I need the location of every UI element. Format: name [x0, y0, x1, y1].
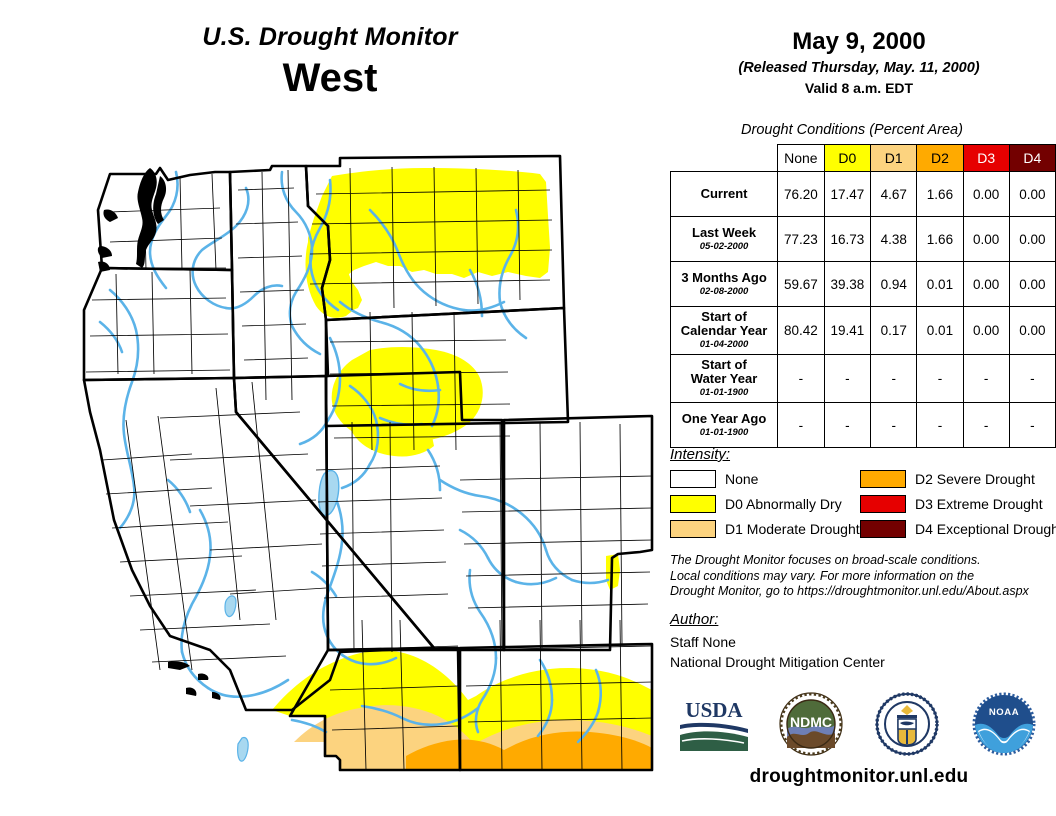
- cell-current-d0: 17.47: [824, 172, 871, 217]
- swatch-none-icon: [670, 470, 716, 488]
- column-header-none: None: [778, 145, 825, 172]
- cell-oneyear-d3: -: [963, 403, 1009, 448]
- cell-calyear-d4: 0.00: [1009, 307, 1055, 355]
- date-block: May 9, 2000 (Released Thursday, May. 11,…: [662, 28, 1056, 98]
- swatch-d1-icon: [670, 520, 716, 538]
- legend-item-d3: D3 Extreme Drought: [860, 491, 1050, 516]
- row-label-last-week: Last Week 05-02-2000: [671, 217, 778, 262]
- legend-item-d4: D4 Exceptional Drought: [860, 516, 1050, 541]
- table-caption: Drought Conditions (Percent Area): [662, 122, 1042, 138]
- column-header-d3: D3: [963, 145, 1009, 172]
- page-title: U.S. Drought Monitor: [0, 22, 660, 52]
- info-panel: May 9, 2000 (Released Thursday, May. 11,…: [662, 0, 1056, 816]
- valid-time: Valid 8 a.m. EDT: [662, 79, 1056, 98]
- cell-lastweek-d2: 1.66: [917, 217, 963, 262]
- cell-wateryear-d0: -: [824, 355, 871, 403]
- column-header-d0: D0: [824, 145, 871, 172]
- author-title: Author:: [670, 611, 718, 628]
- drought-map[interactable]: [40, 150, 660, 800]
- legend-label-d1: D1 Moderate Drought: [725, 521, 860, 537]
- disclaimer-line-3: Drought Monitor, go to https://droughtmo…: [670, 584, 1050, 600]
- swatch-d3-icon: [860, 495, 906, 513]
- row-label-text: Start of Calendar Year: [681, 309, 767, 338]
- site-url[interactable]: droughtmonitor.unl.edu: [662, 766, 1056, 788]
- cell-oneyear-d4: -: [1009, 403, 1055, 448]
- drought-map-svg[interactable]: [40, 150, 660, 800]
- ndmc-logo[interactable]: NDMC: [773, 691, 849, 757]
- row-label-one-year-ago: One Year Ago 01-01-1900: [671, 403, 778, 448]
- row-label-text: Start of Water Year: [691, 357, 758, 386]
- legend-label-d3: D3 Extreme Drought: [915, 496, 1043, 512]
- intensity-legend-title: Intensity:: [670, 446, 730, 463]
- map-title-block: U.S. Drought Monitor West: [0, 22, 660, 102]
- legend-label-none: None: [725, 471, 758, 487]
- legend-label-d0: D0 Abnormally Dry: [725, 496, 842, 512]
- cell-current-d4: 0.00: [1009, 172, 1055, 217]
- author-block: Staff None National Drought Mitigation C…: [670, 632, 1050, 672]
- cell-wateryear-d4: -: [1009, 355, 1055, 403]
- table-corner-cell: [671, 145, 778, 172]
- legend-item-d2: D2 Severe Drought: [860, 466, 1050, 491]
- drought-conditions-table: None D0 D1 D2 D3 D4 Current 76.20 17.47 …: [670, 144, 1056, 448]
- usdc-logo[interactable]: [869, 691, 945, 757]
- column-header-d2: D2: [917, 145, 963, 172]
- column-header-d1: D1: [871, 145, 917, 172]
- svg-text:NOAA: NOAA: [989, 707, 1019, 718]
- row-label-date: 05-02-2000: [673, 241, 775, 253]
- column-header-d4: D4: [1009, 145, 1055, 172]
- author-organization: National Drought Mitigation Center: [670, 652, 1050, 672]
- region-title: West: [0, 54, 660, 102]
- swatch-d4-icon: [860, 520, 906, 538]
- table-row: Last Week 05-02-2000 77.23 16.73 4.38 1.…: [671, 217, 1056, 262]
- cell-3months-d1: 0.94: [871, 262, 917, 307]
- cell-current-d3: 0.00: [963, 172, 1009, 217]
- row-label-text: Last Week: [692, 225, 756, 240]
- svg-text:NDMC: NDMC: [790, 714, 832, 730]
- usda-logo[interactable]: USDA: [676, 691, 752, 757]
- cell-wateryear-none: -: [778, 355, 825, 403]
- intensity-legend: None D2 Severe Drought D0 Abnormally Dry…: [670, 466, 1050, 541]
- table-row: Current 76.20 17.47 4.67 1.66 0.00 0.00: [671, 172, 1056, 217]
- row-label-start-water-year: Start of Water Year 01-01-1900: [671, 355, 778, 403]
- cell-current-none: 76.20: [778, 172, 825, 217]
- table-row: 3 Months Ago 02-08-2000 59.67 39.38 0.94…: [671, 262, 1056, 307]
- cell-3months-d4: 0.00: [1009, 262, 1055, 307]
- cell-lastweek-d3: 0.00: [963, 217, 1009, 262]
- cell-calyear-d0: 19.41: [824, 307, 871, 355]
- legend-label-d4: D4 Exceptional Drought: [915, 521, 1056, 537]
- cell-oneyear-none: -: [778, 403, 825, 448]
- cell-calyear-d3: 0.00: [963, 307, 1009, 355]
- legend-item-d0: D0 Abnormally Dry: [670, 491, 860, 516]
- noaa-logo[interactable]: NOAA: [966, 691, 1042, 757]
- row-label-current: Current: [671, 172, 778, 217]
- release-date: (Released Thursday, May. 11, 2000): [662, 58, 1056, 78]
- author-name: Staff None: [670, 632, 1050, 652]
- legend-item-none: None: [670, 466, 860, 491]
- cell-lastweek-d1: 4.38: [871, 217, 917, 262]
- cell-wateryear-d1: -: [871, 355, 917, 403]
- row-label-text: One Year Ago: [682, 411, 767, 426]
- table-header-row: None D0 D1 D2 D3 D4: [671, 145, 1056, 172]
- disclaimer-line-2: Local conditions may vary. For more info…: [670, 569, 1050, 585]
- legend-label-d2: D2 Severe Drought: [915, 471, 1035, 487]
- cell-oneyear-d0: -: [824, 403, 871, 448]
- table-row: Start of Water Year 01-01-1900 - - - - -…: [671, 355, 1056, 403]
- cell-lastweek-none: 77.23: [778, 217, 825, 262]
- table-row: One Year Ago 01-01-1900 - - - - - -: [671, 403, 1056, 448]
- table-row: Start of Calendar Year 01-04-2000 80.42 …: [671, 307, 1056, 355]
- row-label-start-calendar-year: Start of Calendar Year 01-04-2000: [671, 307, 778, 355]
- disclaimer-text: The Drought Monitor focuses on broad-sca…: [670, 553, 1050, 600]
- swatch-d2-icon: [860, 470, 906, 488]
- row-label-3-months-ago: 3 Months Ago 02-08-2000: [671, 262, 778, 307]
- cell-calyear-d1: 0.17: [871, 307, 917, 355]
- partner-logos: USDA NDMC: [666, 690, 1052, 758]
- cell-current-d1: 4.67: [871, 172, 917, 217]
- row-label-text: 3 Months Ago: [681, 270, 766, 285]
- cell-calyear-d2: 0.01: [917, 307, 963, 355]
- swatch-d0-icon: [670, 495, 716, 513]
- cell-3months-d0: 39.38: [824, 262, 871, 307]
- cell-3months-d2: 0.01: [917, 262, 963, 307]
- cell-calyear-none: 80.42: [778, 307, 825, 355]
- legend-item-d1: D1 Moderate Drought: [670, 516, 860, 541]
- row-label-date: 02-08-2000: [673, 286, 775, 298]
- row-label-text: Current: [701, 186, 748, 201]
- row-label-date: 01-01-1900: [673, 427, 775, 439]
- svg-text:USDA: USDA: [686, 698, 744, 722]
- map-date: May 9, 2000: [662, 28, 1056, 56]
- cell-lastweek-d0: 16.73: [824, 217, 871, 262]
- cell-wateryear-d2: -: [917, 355, 963, 403]
- cell-oneyear-d1: -: [871, 403, 917, 448]
- cell-wateryear-d3: -: [963, 355, 1009, 403]
- row-label-date: 01-01-1900: [673, 387, 775, 399]
- cell-oneyear-d2: -: [917, 403, 963, 448]
- disclaimer-line-1: The Drought Monitor focuses on broad-sca…: [670, 553, 1050, 569]
- row-label-date: 01-04-2000: [673, 339, 775, 351]
- cell-current-d2: 1.66: [917, 172, 963, 217]
- cell-3months-d3: 0.00: [963, 262, 1009, 307]
- cell-lastweek-d4: 0.00: [1009, 217, 1055, 262]
- cell-3months-none: 59.67: [778, 262, 825, 307]
